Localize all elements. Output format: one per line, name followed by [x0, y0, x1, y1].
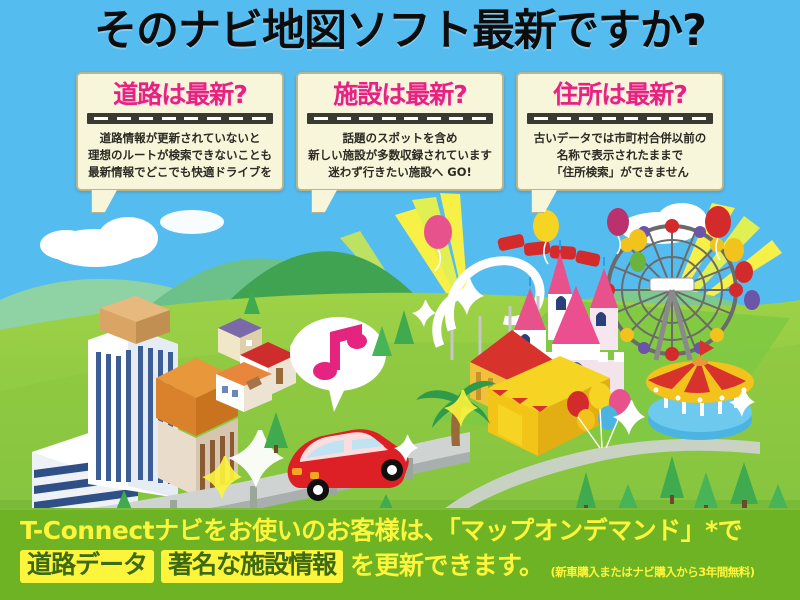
title-text: そのナビ地図ソフト最新ですか? — [94, 8, 706, 55]
callout-road-heading: 道路は最新? — [85, 82, 275, 108]
callout-address-body: 住所は最新? 古いデータでは市町村合併以前の 名称で表示されたままで 「住所検索… — [516, 72, 724, 191]
chip-facility-info: 著名な施設情報 — [161, 550, 343, 583]
callout-row: 道路は最新? 道路情報が更新されていないと 理想のルートが検索できないことも 最… — [0, 72, 800, 191]
callout-facility-line-2: 新しい施設が多数収録されています — [305, 147, 495, 164]
callout-address-lines: 古いデータでは市町村合併以前の 名称で表示されたままで 「住所検索」ができません — [525, 130, 715, 180]
callout-road-lines: 道路情報が更新されていないと 理想のルートが検索できないことも 最新情報でどこで… — [85, 130, 275, 180]
callout-address-tail — [532, 190, 557, 212]
callout-facility-lines: 話題のスポットを含め 新しい施設が多数収録されています 迷わず行きたい施設へ G… — [305, 130, 495, 180]
banner-second-line: 道路データ 著名な施設情報 を更新できます。 (新車購入またはナビ購入から3年間… — [20, 550, 800, 583]
callout-facility-tail — [312, 190, 337, 212]
callout-road: 道路は最新? 道路情報が更新されていないと 理想のルートが検索できないことも 最… — [76, 72, 284, 191]
road-divider-icon — [87, 113, 273, 124]
callout-address-line-1: 古いデータでは市町村合併以前の — [525, 130, 715, 147]
callout-address-line-2: 名称で表示されたままで — [525, 147, 715, 164]
road-divider-icon — [307, 113, 493, 124]
callout-facility-body: 施設は最新? 話題のスポットを含め 新しい施設が多数収録されています 迷わず行き… — [296, 72, 504, 191]
banner-footnote: (新車購入またはナビ購入から3年間無料) — [551, 564, 755, 583]
chip-road-data: 道路データ — [20, 550, 154, 583]
banner-suffix-text: を更新できます。 — [350, 552, 544, 581]
page-title: そのナビ地図ソフト最新ですか? — [0, 8, 800, 55]
callout-road-line-1: 道路情報が更新されていないと — [85, 130, 275, 147]
callout-facility-line-3: 迷わず行きたい施設へ GO! — [305, 164, 495, 181]
cloud-center — [160, 210, 224, 234]
road-divider-icon — [527, 113, 713, 124]
callout-facility: 施設は最新? 話題のスポットを含め 新しい施設が多数収録されています 迷わず行き… — [296, 72, 504, 191]
bottom-banner: T-Connectナビをお使いのお客様は、「マップオンデマンド」*で 道路データ… — [0, 508, 800, 600]
banner-headline: T-Connectナビをお使いのお客様は、「マップオンデマンド」*で — [20, 517, 800, 545]
callout-address-line-3: 「住所検索」ができません — [525, 164, 715, 181]
callout-address-heading: 住所は最新? — [525, 82, 715, 108]
callout-facility-line-1: 話題のスポットを含め — [305, 130, 495, 147]
callout-address: 住所は最新? 古いデータでは市町村合併以前の 名称で表示されたままで 「住所検索… — [516, 72, 724, 191]
ferris-wheel — [601, 219, 743, 361]
callout-road-body: 道路は最新? 道路情報が更新されていないと 理想のルートが検索できないことも 最… — [76, 72, 284, 191]
callout-facility-heading: 施設は最新? — [305, 82, 495, 108]
poster-root: そのナビ地図ソフト最新ですか? 道路は最新? 道路情報が更新されていないと 理想… — [0, 0, 800, 600]
callout-road-tail — [92, 190, 117, 212]
callout-road-line-2: 理想のルートが検索できないことも — [85, 147, 275, 164]
callout-road-line-3: 最新情報でどこでも快適ドライブを — [85, 164, 275, 181]
